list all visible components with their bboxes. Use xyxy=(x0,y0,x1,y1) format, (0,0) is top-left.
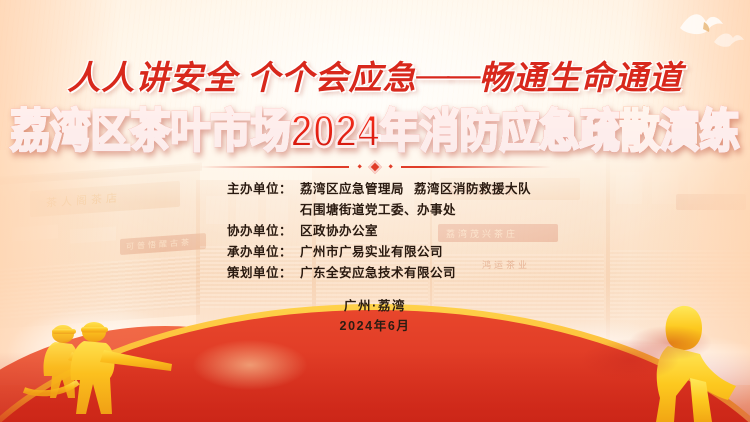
bird-icon xyxy=(676,6,728,40)
poster-subtitle: 人人讲安全 个个会应急——畅通生命通道 xyxy=(0,52,750,98)
divider-dot xyxy=(357,165,362,170)
divider-line-right xyxy=(401,166,551,168)
organizer-row: 承办单位： 广州市广易实业有限公司 xyxy=(210,242,540,262)
main-title-accent: 散 xyxy=(619,94,659,160)
footer-date: 2024年6月 xyxy=(340,316,411,336)
organizer-label: 策划单位： xyxy=(210,263,292,283)
main-title-lead: 荔湾区茶叶市场2024年消防应急疏 xyxy=(11,94,620,160)
organizer-value: 广东全安应急技术有限公司 xyxy=(292,263,456,283)
poster-footer: 广州·荔湾 2024年6月 xyxy=(0,296,750,336)
organizer-value-a: 荔湾区应急管理局 xyxy=(300,182,404,196)
organizer-value: 区政协办公室 xyxy=(292,221,378,241)
divider-line-left xyxy=(199,166,349,168)
main-title-tail: 演练 xyxy=(659,94,739,160)
subtitle-part2: 畅通生命通道 xyxy=(479,51,683,99)
organizer-value: 石围塘街道党工委、办事处 xyxy=(292,200,456,220)
organizer-label: 主办单位： xyxy=(210,179,292,199)
organizer-row: 石围塘街道党工委、办事处 xyxy=(210,200,540,220)
subtitle-part1: 人人讲安全 个个会应急 xyxy=(67,51,416,99)
organizer-row: 协办单位： 区政协办公室 xyxy=(210,221,540,241)
organizer-value-b: 荔湾区消防救援大队 xyxy=(414,182,531,196)
organizer-label: 承办单位： xyxy=(210,242,292,262)
organizer-row: 策划单位： 广东全安应急技术有限公司 xyxy=(210,263,540,283)
poster-canvas: 茶人阁茶店 可普悟醒古茶 勐海远达茶厂 荔湾茂兴茶庄 鸿运茶业 xyxy=(0,0,750,422)
ornament-divider xyxy=(0,158,750,176)
organizer-row: 主办单位： 荔湾区应急管理局荔湾区消防救援大队 xyxy=(210,179,540,199)
organizer-value: 荔湾区应急管理局荔湾区消防救援大队 xyxy=(292,179,531,199)
divider-dot xyxy=(388,165,393,170)
organizer-value: 广州市广易实业有限公司 xyxy=(292,242,443,262)
bird-icon xyxy=(712,28,746,50)
organizer-label: 协办单位： xyxy=(210,221,292,241)
footer-place: 广州·荔湾 xyxy=(344,296,406,316)
poster-main-title: 荔湾区茶叶市场2024年消防应急疏散演练 xyxy=(0,96,750,158)
organizer-list: 主办单位： 荔湾区应急管理局荔湾区消防救援大队 石围塘街道党工委、办事处 协办单… xyxy=(0,179,750,284)
subtitle-dash: —— xyxy=(417,57,479,94)
divider-diamond-icon xyxy=(368,160,382,174)
